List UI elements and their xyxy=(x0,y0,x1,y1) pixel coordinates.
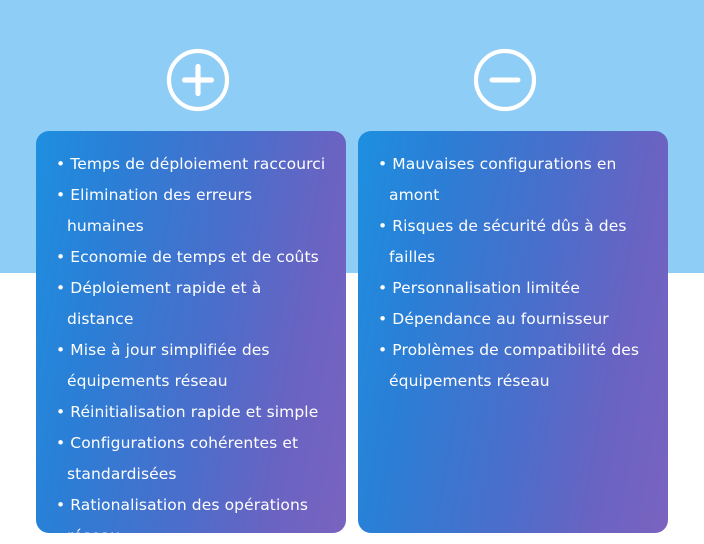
minus-circle-icon xyxy=(471,46,539,114)
cons-card: Mauvaises configurations en amont Risque… xyxy=(358,131,668,533)
list-item: Réinitialisation rapide et simple xyxy=(56,397,330,428)
pros-list: Temps de déploiement raccourci Eliminati… xyxy=(56,149,330,533)
list-item: Rationalisation des opérations réseau xyxy=(56,490,330,533)
list-item: Risques de sécurité dûs à des failles xyxy=(378,211,652,273)
slide-canvas: Temps de déploiement raccourci Eliminati… xyxy=(0,0,704,544)
list-item: Mauvaises configurations en amont xyxy=(378,149,652,211)
list-item: Problèmes de compatibilité des équipemen… xyxy=(378,335,652,397)
cons-list: Mauvaises configurations en amont Risque… xyxy=(378,149,652,397)
list-item: Economie de temps et de coûts xyxy=(56,242,330,273)
list-item: Déploiement rapide et à distance xyxy=(56,273,330,335)
list-item: Personnalisation limitée xyxy=(378,273,652,304)
plus-circle-icon xyxy=(164,46,232,114)
pros-card: Temps de déploiement raccourci Eliminati… xyxy=(36,131,346,533)
list-item: Elimination des erreurs humaines xyxy=(56,180,330,242)
list-item: Dépendance au fournisseur xyxy=(378,304,652,335)
list-item: Temps de déploiement raccourci xyxy=(56,149,330,180)
list-item: Mise à jour simplifiée des équipements r… xyxy=(56,335,330,397)
list-item: Configurations cohérentes et standardisé… xyxy=(56,428,330,490)
icon-row xyxy=(0,0,704,130)
